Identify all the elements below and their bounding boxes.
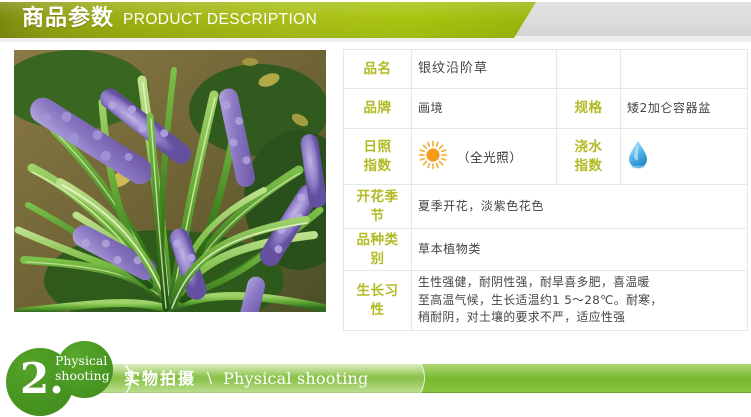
banner-badge-line2: shooting [55, 369, 127, 384]
table-row: 日照 指数 [344, 129, 748, 185]
table-row: 品名 银纹沿阶草 [344, 50, 748, 89]
product-photo [14, 50, 326, 312]
spec-label-spec: 规格 [557, 89, 621, 129]
spec-value-brand: 画境 [412, 89, 557, 129]
spec-label-name: 品名 [344, 50, 412, 89]
spec-label-bloom-season: 开花季节 [344, 185, 412, 229]
banner-title-group: 实物拍摄 \ Physical shooting [124, 364, 369, 393]
water-drop-icon [627, 155, 649, 174]
page-title-cn: 商品参数 [22, 8, 114, 32]
spec-label-watering: 浇水 指数 [557, 129, 621, 185]
product-description-page: 商品参数 PRODUCT DESCRIPTION [0, 0, 751, 417]
table-row: 生长习性 生性强健，耐阴性强，耐旱喜多肥，喜温暖 至高温气候，生长适温约1 5～… [344, 271, 748, 331]
section-header: 商品参数 PRODUCT DESCRIPTION [0, 0, 751, 46]
spec-value-name: 银纹沿阶草 [412, 50, 557, 89]
table-row: 开花季节 夏季开花，淡紫色花色 [344, 185, 748, 229]
spec-value-category: 草本植物类 [412, 229, 748, 271]
sun-icon [418, 140, 448, 174]
banner-badge-text: Physical shooting [55, 354, 127, 384]
page-title-en: PRODUCT DESCRIPTION [123, 12, 317, 29]
spec-label-brand: 品牌 [344, 89, 412, 129]
section-banner: 实物拍摄 \ Physical shooting 2. Physical sho… [0, 340, 751, 417]
spec-value-spec: 矮2加仑容器盆 [621, 89, 748, 129]
spec-value-bloom-season: 夏季开花，淡紫色花色 [412, 185, 748, 229]
product-spec-table: 品名 银纹沿阶草 品牌 画境 规格 矮2加仑容器盆 日照 指数 [343, 49, 748, 331]
spec-label-growth-habit: 生长习性 [344, 271, 412, 331]
spec-value-watering [621, 129, 748, 185]
spec-label-sunlight: 日照 指数 [344, 129, 412, 185]
banner-title-cn: 实物拍摄 [124, 371, 196, 387]
sunlight-caption: （全光照） [457, 147, 523, 166]
table-row: 品牌 画境 规格 矮2加仑容器盆 [344, 89, 748, 129]
banner-separator: \ [207, 371, 212, 386]
spec-empty-label [557, 50, 621, 89]
table-row: 品种类别 草本植物类 [344, 229, 748, 271]
banner-badge-line1: Physical [55, 354, 127, 369]
spec-value-growth-habit: 生性强健，耐阴性强，耐旱喜多肥，喜温暖 至高温气候，生长适温约1 5～28℃。耐… [412, 271, 748, 331]
spec-value-sunlight: （全光照） [412, 129, 557, 185]
banner-title-en: Physical shooting [223, 371, 368, 387]
spec-label-category: 品种类别 [344, 229, 412, 271]
header-title-group: 商品参数 PRODUCT DESCRIPTION [22, 2, 317, 38]
spec-empty-value [621, 50, 748, 89]
